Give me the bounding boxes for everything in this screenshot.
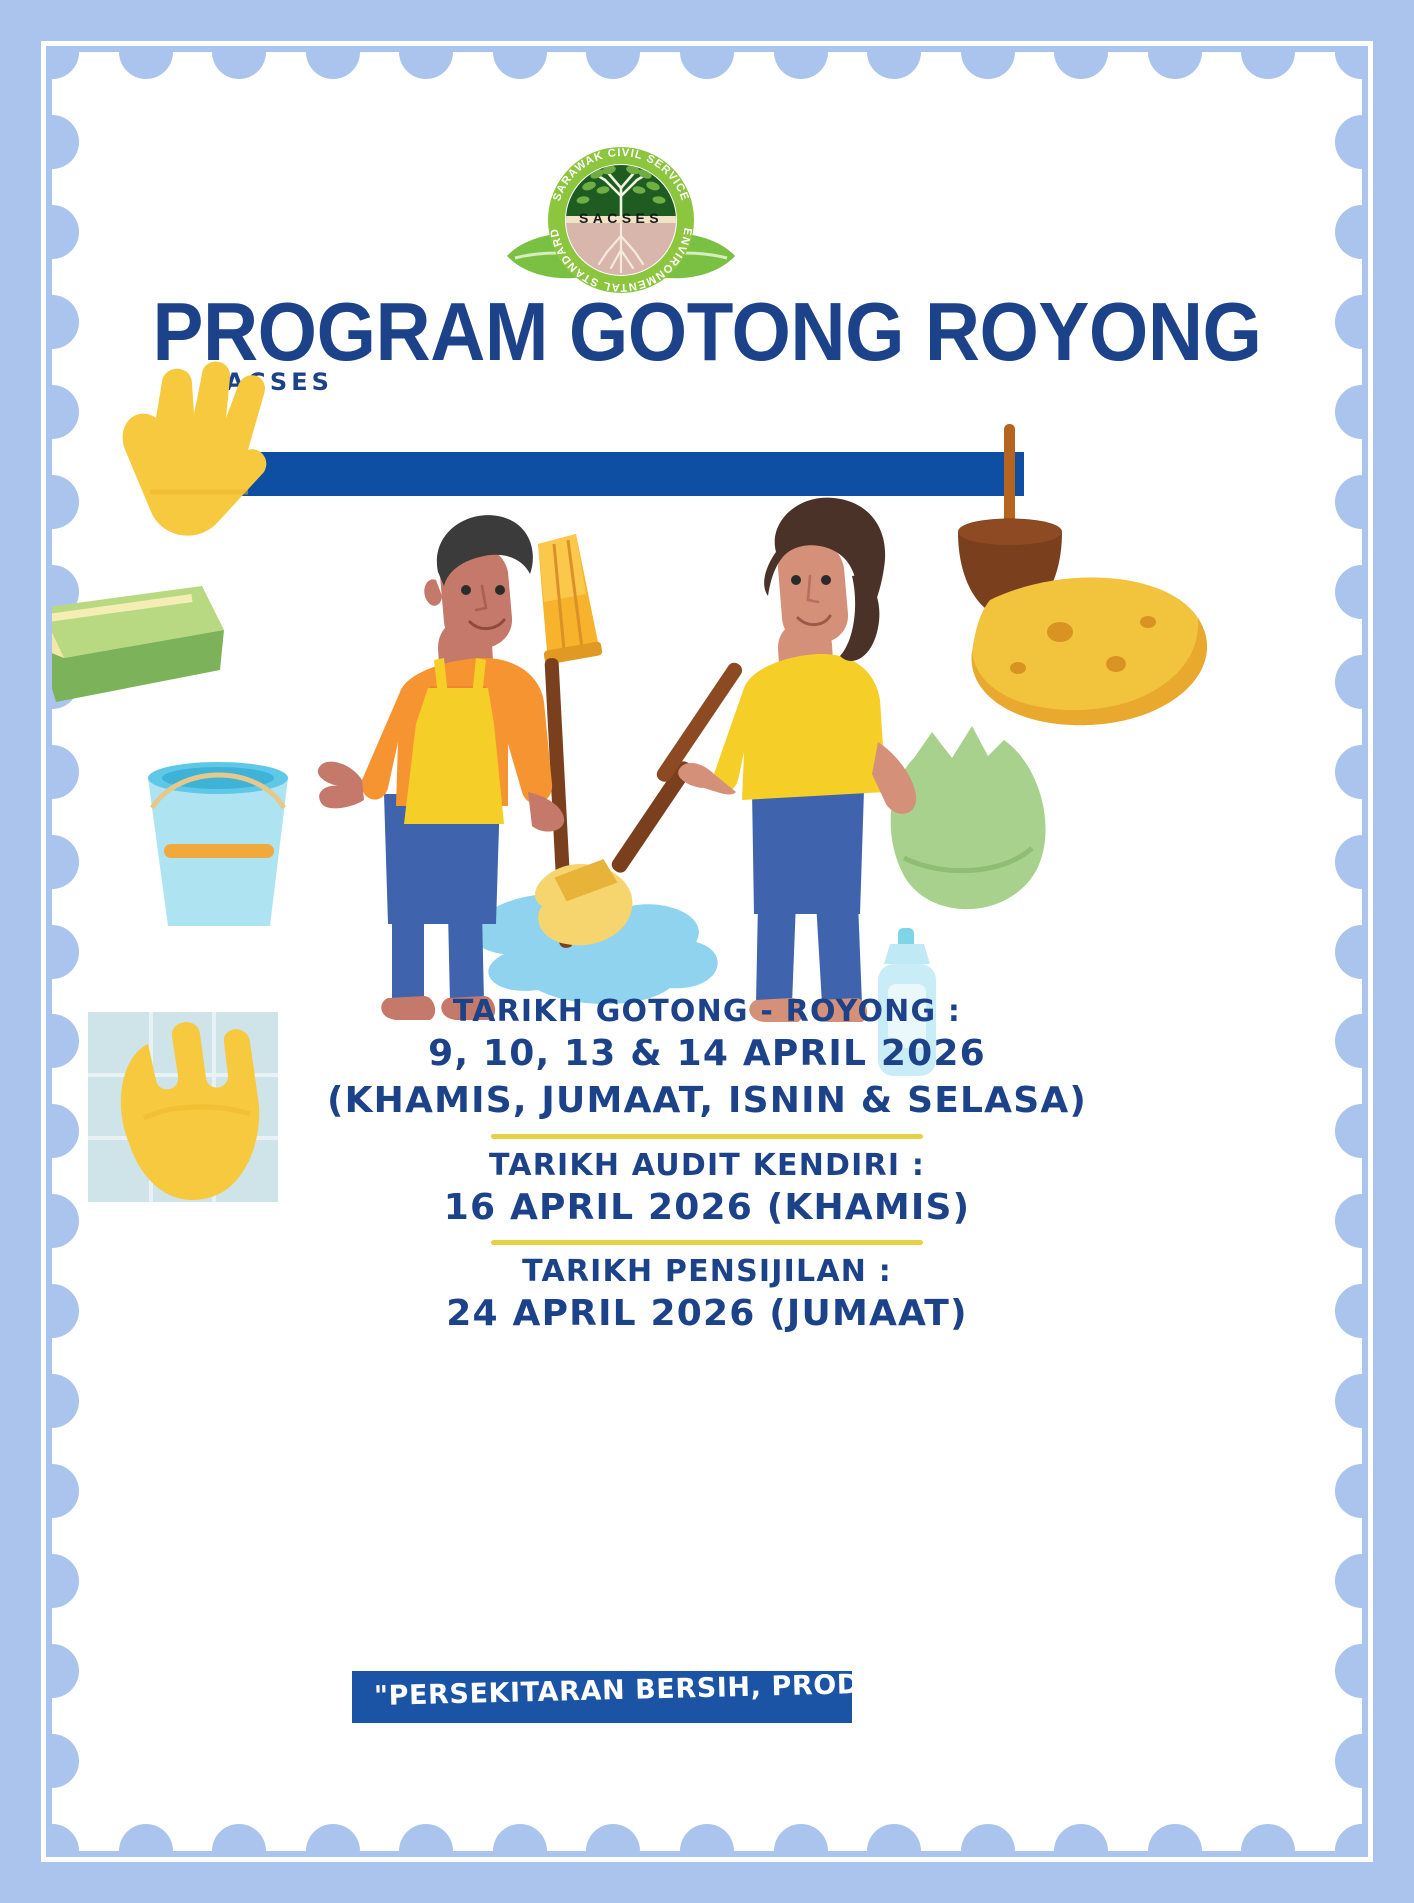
schedule-group-pensijilan: TARIKH PENSIJILAN : 24 APRIL 2026 (JUMAA…: [307, 1252, 1107, 1338]
person-girl-with-mop: [678, 498, 916, 1022]
cyan-bucket-left: [148, 762, 288, 926]
sacses-logo: SARAWAK CIVIL SERVICE ENVIRONMENTAL STAN…: [501, 144, 741, 304]
page-title: PROGRAM GOTONG ROYONG: [104, 284, 1309, 380]
schedule-block: TARIKH GOTONG - ROYONG : 9, 10, 13 & 14 …: [307, 992, 1107, 1338]
green-garbage-bag-right: [891, 726, 1046, 909]
broom: [538, 534, 603, 948]
stamp-sheet: SARAWAK CIVIL SERVICE ENVIRONMENTAL STAN…: [52, 52, 1362, 1851]
yellow-gloves-on-tiles-bottom-left: [88, 1012, 278, 1202]
schedule-group-audit-kendiri: TARIKH AUDIT KENDIRI : 16 APRIL 2026 (KH…: [307, 1146, 1107, 1232]
divider-gold-2: [491, 1240, 923, 1245]
schedule-value: 16 APRIL 2026 (KHAMIS): [307, 1185, 1107, 1232]
schedule-value-days: (KHAMIS, JUMAAT, ISNIN & SELASA): [307, 1078, 1107, 1125]
schedule-label: TARIKH GOTONG - ROYONG :: [307, 992, 1107, 1031]
divider-gold-1: [491, 1134, 923, 1139]
frame-rule-left: [41, 41, 46, 1862]
tagline-text: "PERSEKITARAN BERSIH, PRODUKTIVITI MENIN…: [374, 1671, 852, 1712]
schedule-label: TARIKH PENSIJILAN :: [307, 1252, 1107, 1291]
mop: [535, 660, 745, 945]
frame-rule-bottom: [41, 1857, 1373, 1862]
frame-rule-top: [41, 41, 1373, 46]
schedule-value: 24 APRIL 2026 (JUMAAT): [307, 1291, 1107, 1338]
water-puddle: [463, 894, 717, 1004]
page-subtitle: SACSES: [204, 368, 333, 396]
schedule-label: TARIKH AUDIT KENDIRI :: [307, 1146, 1107, 1185]
schedule-group-gotong-royong: TARIKH GOTONG - ROYONG : 9, 10, 13 & 14 …: [307, 992, 1107, 1125]
green-sponge-left: [52, 586, 224, 702]
frame-rule-right: [1368, 41, 1373, 1862]
tagline-banner: "PERSEKITARAN BERSIH, PRODUKTIVITI MENIN…: [352, 1671, 852, 1723]
logo-center-label: SACSES: [545, 210, 697, 226]
person-boy-with-broom: [318, 515, 564, 1020]
title-underline-bar: [202, 452, 1024, 496]
orange-sponge-right: [972, 577, 1207, 725]
poster-canvas: SARAWAK CIVIL SERVICE ENVIRONMENTAL STAN…: [0, 0, 1414, 1903]
schedule-value: 9, 10, 13 & 14 APRIL 2026: [307, 1031, 1107, 1078]
